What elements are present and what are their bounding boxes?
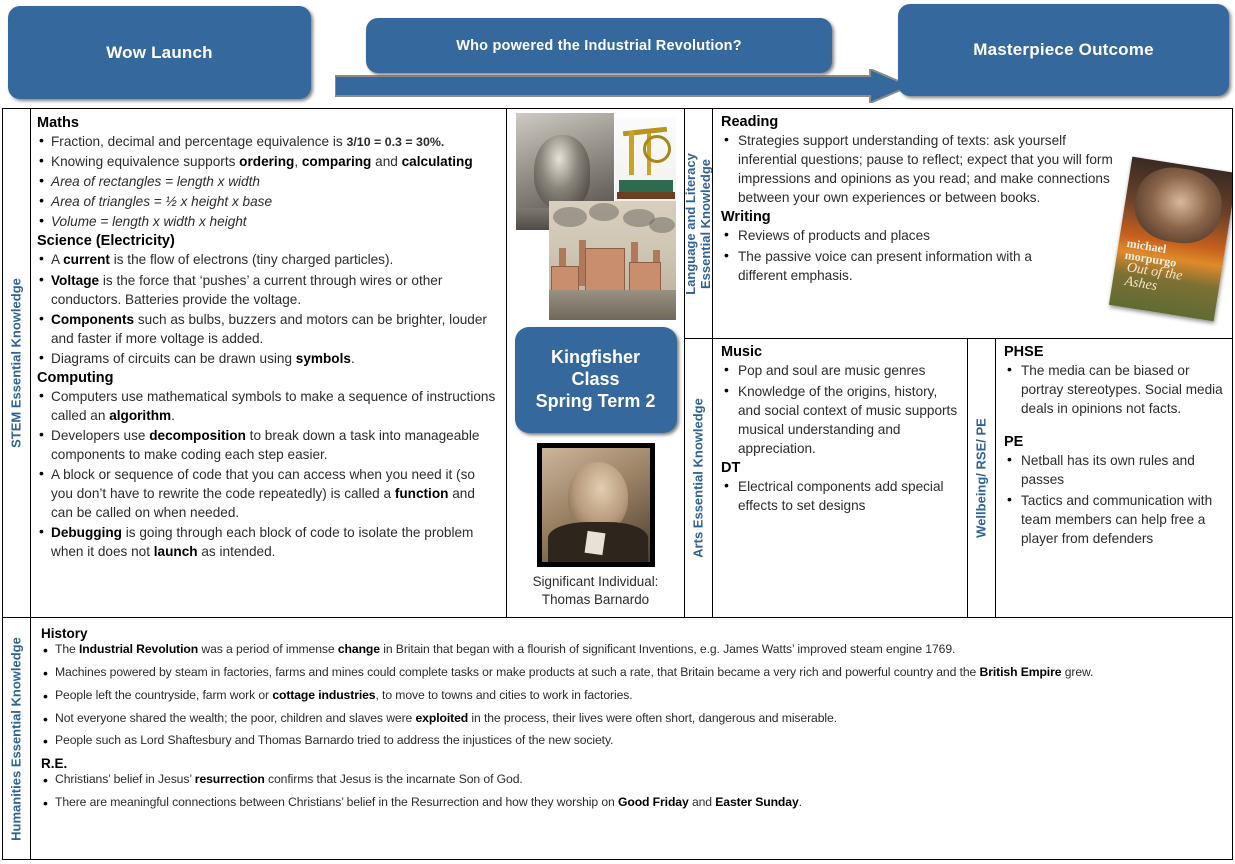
list-item: Electrical components add special effect… (721, 477, 959, 515)
history-bullet-list: The Industrial Revolution was a period o… (41, 642, 1222, 749)
significant-individual-name: Thomas Barnardo (533, 591, 659, 609)
history-heading: History (41, 626, 1222, 641)
significant-individual-caption: Significant Individual: Thomas Barnardo (533, 573, 659, 609)
curriculum-table: STEM Essential Knowledge Maths Fraction,… (2, 108, 1233, 860)
sidebar-label-wellbeing-text: Wellbeing/ RSE/ PE (974, 418, 989, 538)
thomas-barnardo-portrait (537, 443, 655, 567)
list-item: Not everyone shared the wealth; the poor… (41, 711, 1222, 727)
computing-heading: Computing (37, 370, 500, 386)
maths-bullet-list: Fraction, decimal and percentage equival… (37, 132, 500, 231)
masterpiece-outcome-label: Masterpiece Outcome (973, 40, 1153, 60)
list-item: Area of triangles = ½ x height x base (37, 192, 500, 211)
sidebar-label-humanities: Humanities Essential Knowledge (3, 618, 31, 859)
list-item: Debugging is going through each block of… (37, 523, 500, 561)
list-item: Knowledge of the origins, history, and s… (721, 382, 959, 458)
masterpiece-outcome-box[interactable]: Masterpiece Outcome (898, 4, 1229, 96)
list-item: Strategies support understanding of text… (721, 131, 1113, 207)
list-item: Fraction, decimal and percentage equival… (37, 132, 500, 151)
list-item: A block or sequence of code that you can… (37, 465, 500, 522)
list-item: Volume = length x width x height (37, 212, 500, 231)
re-bullet-list: Christians’ belief in Jesus’ resurrectio… (41, 772, 1222, 811)
arts-essential-knowledge-cell: Music Pop and soul are music genresKnowl… (713, 339, 968, 617)
list-item: Tactics and communication with team memb… (1004, 491, 1224, 548)
writing-bullet-list: Reviews of products and placesThe passiv… (721, 226, 1083, 285)
science-heading: Science (Electricity) (37, 233, 500, 249)
list-item: Diagrams of circuits can be drawn using … (37, 349, 500, 368)
list-item: People such as Lord Shaftesbury and Thom… (41, 733, 1222, 749)
humanities-essential-knowledge-cell: History The Industrial Revolution was a … (31, 618, 1232, 859)
wow-launch-box[interactable]: Wow Launch (8, 6, 311, 99)
language-literacy-cell: michael morpurgo Out of the Ashes Readin… (713, 109, 1232, 338)
list-item: The media can be biased or portray stere… (1004, 361, 1224, 418)
sidebar-label-stem: STEM Essential Knowledge (3, 109, 31, 617)
computing-bullet-list: Computers use mathematical symbols to ma… (37, 387, 500, 561)
phse-heading: PHSE (1004, 344, 1224, 360)
sidebar-label-language-text: Language and Literacy Essential Knowledg… (685, 109, 713, 338)
list-item: Christians’ belief in Jesus’ resurrectio… (41, 772, 1222, 788)
list-item: Developers use decomposition to break do… (37, 426, 500, 464)
list-item: The Industrial Revolution was a period o… (41, 642, 1222, 658)
significant-individual-label: Significant Individual: (533, 573, 659, 591)
list-item: Computers use mathematical symbols to ma… (37, 387, 500, 425)
list-item: Machines powered by steam in factories, … (41, 665, 1222, 681)
driver-question-box[interactable]: Who powered the Industrial Revolution? (366, 18, 832, 73)
topic-header: Wow Launch Who powered the Industrial Re… (0, 0, 1235, 108)
wow-launch-label: Wow Launch (106, 43, 213, 63)
phse-bullet-list: The media can be biased or portray stere… (1004, 361, 1224, 418)
table-row-upper: STEM Essential Knowledge Maths Fraction,… (3, 109, 1232, 618)
wellbeing-rse-pe-cell: PHSE The media can be biased or portray … (996, 339, 1232, 617)
maths-heading: Maths (37, 115, 500, 131)
stem-essential-knowledge-cell: Maths Fraction, decimal and percentage e… (31, 109, 507, 617)
industrial-revolution-photo-collage (516, 113, 676, 320)
media-column: Kingfisher Class Spring Term 2 Significa… (507, 109, 685, 617)
reading-heading: Reading (721, 114, 1224, 130)
music-bullet-list: Pop and soul are music genresKnowledge o… (721, 361, 959, 458)
class-badge-line-2: Class (571, 369, 619, 391)
list-item: Voltage is the force that ‘pushes’ a cur… (37, 271, 500, 309)
dt-bullet-list: Electrical components add special effect… (721, 477, 959, 515)
list-item: Pop and soul are music genres (721, 361, 959, 380)
pe-bullet-list: Netball has its own rules and passesTact… (1004, 451, 1224, 548)
list-item: Knowing equivalence supports ordering, c… (37, 152, 500, 171)
list-item: There are meaningful connections between… (41, 795, 1222, 811)
right-subject-stack: Language and Literacy Essential Knowledg… (685, 109, 1232, 617)
music-heading: Music (721, 344, 959, 360)
sidebar-label-wellbeing: Wellbeing/ RSE/ PE (968, 339, 996, 617)
fraction-equivalence-value: 3/10 = 0.3 = 30%. (346, 135, 444, 149)
science-bullet-list: A current is the flow of electrons (tiny… (37, 250, 500, 367)
list-item: The passive voice can present informatio… (721, 247, 1083, 285)
sidebar-label-humanities-text: Humanities Essential Knowledge (9, 637, 24, 841)
list-item: Reviews of products and places (721, 226, 1083, 245)
table-row-language: Language and Literacy Essential Knowledg… (685, 109, 1232, 339)
list-item: A current is the flow of electrons (tiny… (37, 250, 500, 269)
sidebar-label-arts: Arts Essential Knowledge (685, 339, 713, 617)
table-row-arts-wellbeing: Arts Essential Knowledge Music Pop and s… (685, 339, 1232, 617)
progress-arrow-icon (335, 69, 910, 103)
curriculum-overview-page: Wow Launch Who powered the Industrial Re… (0, 0, 1235, 864)
sidebar-label-language: Language and Literacy Essential Knowledg… (685, 109, 713, 338)
steam-engine-model-photo (615, 117, 676, 201)
list-item: Area of rectangles = length x width (37, 172, 500, 191)
class-badge-line-3: Spring Term 2 (536, 391, 656, 413)
dt-heading: DT (721, 460, 959, 476)
list-item: Netball has its own rules and passes (1004, 451, 1224, 489)
out-of-the-ashes-book-cover: michael morpurgo Out of the Ashes (1109, 157, 1232, 322)
class-badge-line-1: Kingfisher (551, 347, 640, 369)
sidebar-label-stem-text: STEM Essential Knowledge (9, 278, 24, 448)
class-term-badge[interactable]: Kingfisher Class Spring Term 2 (515, 327, 677, 433)
pe-heading: PE (1004, 434, 1224, 450)
re-heading: R.E. (41, 756, 1222, 771)
driver-question-label: Who powered the Industrial Revolution? (456, 38, 742, 54)
table-row-humanities: Humanities Essential Knowledge History T… (3, 618, 1232, 859)
list-item: Components such as bulbs, buzzers and mo… (37, 310, 500, 348)
list-item: People left the countryside, farm work o… (41, 688, 1222, 704)
reading-bullet-list: Strategies support understanding of text… (721, 131, 1113, 207)
sidebar-label-arts-text: Arts Essential Knowledge (691, 398, 706, 558)
factory-town-painting (549, 201, 676, 320)
